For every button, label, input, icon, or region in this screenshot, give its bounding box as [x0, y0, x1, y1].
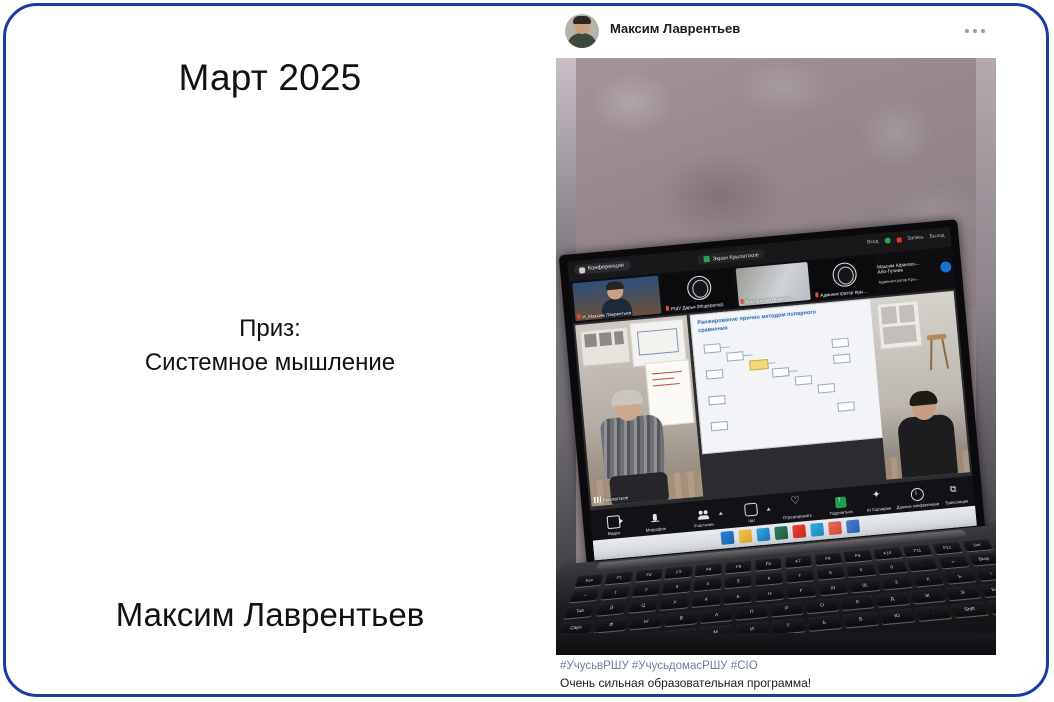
keyboard-key[interactable]: 0 [877, 561, 907, 574]
toolbar-button-chat[interactable]: Чат [730, 501, 772, 525]
meet-icon[interactable] [846, 519, 860, 533]
keyboard-key[interactable]: Shift [951, 602, 989, 618]
post-photo[interactable]: Конференция Экран Крылатское Вход Запись… [556, 58, 996, 655]
keyboard-key[interactable]: Esc [574, 574, 604, 587]
keyboard-key[interactable]: . [915, 605, 952, 621]
globe-avatar-icon [686, 275, 712, 301]
keyboard-key[interactable]: F4 [695, 563, 722, 576]
keyboard-key[interactable]: Т [772, 618, 805, 634]
keyboard-key[interactable]: Ф [594, 617, 628, 633]
keyboard-key[interactable]: 7 [786, 569, 814, 583]
keyboard-key[interactable]: Ю [879, 608, 915, 624]
toolbar-button-share[interactable]: Поделиться [820, 495, 861, 517]
post-caption: #УчусьвРШУ #УчусьдомасРШУ #CIO Очень сил… [560, 660, 990, 690]
post-caption-text: Очень сильная образовательная программа! [560, 676, 990, 690]
keyboard-key[interactable]: 3 [662, 580, 691, 594]
toolbar-button-participants[interactable]: Участники [682, 508, 723, 530]
keyboard-key[interactable]: Ц [628, 598, 658, 613]
screen-share-icon [703, 255, 710, 262]
chevron-up-icon[interactable] [719, 512, 723, 515]
keyboard-key[interactable]: F2 [635, 569, 663, 582]
participant-tile[interactable]: Н_Максим Лаврентьев [572, 276, 661, 322]
keyboard-key[interactable]: Й [596, 601, 627, 616]
keyboard-key[interactable]: F6 [755, 558, 782, 571]
camera-feed-right[interactable] [870, 291, 970, 480]
edge-icon[interactable] [756, 528, 770, 542]
avatar[interactable] [565, 14, 599, 48]
keyboard-key[interactable]: Ъ [943, 570, 976, 584]
laptop-screen: Конференция Экран Крылатское Вход Запись… [567, 227, 977, 561]
keyboard-key[interactable]: 2 [631, 583, 660, 597]
laptop: Конференция Экран Крылатское Вход Запись… [556, 189, 996, 655]
keyboard-key[interactable]: Bksp [968, 553, 996, 566]
keyboard-key[interactable]: \ [975, 567, 996, 581]
keyboard-key[interactable]: Ж [910, 588, 946, 603]
keyboard-key[interactable]: Н [756, 587, 784, 601]
record-label[interactable]: Запись [907, 234, 924, 241]
keyboard-key[interactable]: Ь [808, 615, 842, 631]
keyboard-key[interactable]: F1 [605, 571, 634, 584]
participant-avatar-icon[interactable] [940, 261, 952, 273]
keyboard-key[interactable]: Ш [818, 581, 848, 595]
avatar-hair [573, 16, 591, 24]
keyboard-key[interactable]: ~ [569, 589, 600, 603]
keyboard-key[interactable]: 8 [816, 566, 845, 579]
more-options-icon[interactable] [965, 26, 987, 36]
keyboard-key[interactable]: = [938, 555, 970, 568]
keyboard-key[interactable]: Х [912, 573, 944, 587]
exit-label[interactable]: Выход [929, 232, 944, 239]
toolbar-button-react[interactable]: Отреагировать [776, 499, 817, 521]
globe-avatar-icon [832, 262, 858, 288]
laptop-lid: Конференция Экран Крылатское Вход Запись… [559, 219, 986, 574]
camera-feed-left[interactable]: Крылатское [575, 315, 703, 506]
keyboard-key[interactable]: Л [840, 595, 874, 610]
slide-text-column: Март 2025 Приз: Системное мышление Макси… [0, 0, 540, 702]
post-author-name[interactable]: Максим Лаврентьев [610, 21, 740, 36]
keyboard-key[interactable]: П [736, 604, 768, 619]
telegram-icon[interactable] [810, 523, 824, 537]
shared-slide-title: Ранжирование причин методом попарного ср… [697, 307, 848, 336]
info-icon [910, 487, 924, 501]
person-in-frame [596, 390, 670, 505]
toolbar-button-broadcast[interactable]: Трансляция [935, 485, 976, 507]
page-title: Март 2025 [0, 57, 540, 99]
keyboard-key[interactable]: Е [724, 590, 752, 604]
post-header: Максим Лаврентьев [548, 14, 1003, 54]
keyboard-key[interactable]: Д [875, 592, 910, 607]
conference-room-badge: Конференция [574, 260, 632, 275]
microphone-icon [649, 513, 661, 525]
record-dot-icon [896, 237, 901, 242]
keyboard-key[interactable]: F12 [932, 542, 963, 555]
shared-slide-diagram [703, 331, 861, 440]
keyboard-key[interactable]: 5 [725, 575, 752, 589]
camera-icon [606, 515, 620, 529]
conference-main-area: Крылатское Ранжирование причин методом п… [573, 289, 972, 511]
keyboard-key[interactable]: Р [771, 601, 803, 616]
login-label[interactable]: Вход [867, 238, 879, 245]
toolbar-button-microphone[interactable]: Микрофон [635, 512, 676, 534]
prize-block: Приз: Системное мышление [0, 312, 540, 380]
office-icon[interactable] [828, 521, 842, 535]
presentation-slide: Март 2025 Приз: Системное мышление Макси… [0, 0, 1054, 702]
prize-label: Приз: [0, 312, 540, 346]
keyboard-key[interactable]: ↑ [987, 598, 996, 614]
keyboard-key[interactable]: Б [843, 611, 878, 627]
keyboard-key[interactable]: А [700, 607, 732, 623]
keyboard-key[interactable]: F5 [725, 561, 752, 574]
keyboard-key[interactable]: F9 [844, 550, 873, 563]
heart-icon [790, 501, 802, 513]
keyboard-key[interactable]: Щ [850, 578, 881, 592]
keyboard-key[interactable]: Э [945, 585, 981, 600]
keyboard-key[interactable]: - [907, 558, 938, 571]
chat-icon [743, 503, 757, 517]
keyboard-key[interactable]: Enter [979, 582, 996, 597]
shelf [580, 327, 631, 367]
shared-slide[interactable]: Ранжирование причин методом попарного ср… [690, 298, 884, 454]
participant-tile[interactable]: Администратор Кры... [810, 256, 877, 300]
post-hashtags[interactable]: #УчусьвРШУ #УчусьдомасРШУ #CIO [560, 660, 990, 672]
keyboard-key[interactable]: В [665, 611, 698, 627]
keyboard-key[interactable]: О [806, 598, 839, 613]
record-icon [950, 486, 962, 498]
participant-tile[interactable]: РШУ Дарья (Модератор) [661, 269, 736, 313]
keyboard-key[interactable]: 4 [693, 577, 721, 591]
keyboard-key[interactable]: Ы [629, 614, 663, 630]
keyboard-key[interactable]: З [881, 575, 912, 589]
desk-foreground [556, 633, 996, 655]
prize-name: Системное мышление [0, 346, 540, 380]
sparkle-icon [872, 493, 884, 505]
keyboard-key[interactable]: Del [962, 539, 993, 551]
opera-icon[interactable] [792, 524, 806, 538]
chevron-up-icon[interactable] [766, 507, 770, 510]
share-screen-icon [834, 497, 846, 509]
social-post-card: Максим Лаврентьев Конференция Экран Кры [548, 0, 1003, 702]
status-dot-icon [884, 237, 891, 244]
keyboard-key[interactable]: Г [787, 584, 816, 598]
keyboard-key[interactable]: F8 [814, 553, 842, 566]
keyboard-key[interactable]: F10 [873, 547, 902, 560]
keyboard-key[interactable]: У [660, 595, 690, 610]
window [876, 300, 922, 350]
person-name: Максим Лаврентьев [0, 596, 540, 634]
avatar-body [567, 33, 597, 48]
keyboard-key[interactable]: Tab [564, 604, 596, 619]
keyboard-key[interactable]: F3 [665, 566, 693, 579]
keyboard-key[interactable]: 9 [846, 564, 876, 577]
screen-share-label: Экран Крылатское [697, 249, 765, 265]
stool [923, 333, 952, 371]
store-icon[interactable] [774, 526, 788, 540]
keyboard-key[interactable]: F11 [903, 544, 933, 557]
participant-tile[interactable]: Крылатское (Камера ... [736, 262, 811, 306]
toolbar-button-info[interactable]: Данные конференции [893, 486, 941, 510]
people-icon [697, 509, 709, 521]
toolbar-button-video[interactable]: Видео [593, 514, 635, 538]
keyboard-key[interactable]: F7 [785, 555, 812, 568]
file-explorer-icon[interactable] [738, 529, 752, 543]
keyboard-key[interactable]: 1 [600, 586, 630, 600]
conference-top-right-controls[interactable]: Вход Запись Выход [867, 232, 945, 245]
person-in-frame [895, 392, 958, 479]
keyboard-key[interactable]: 6 [755, 572, 783, 586]
start-icon[interactable] [720, 531, 734, 545]
keyboard-key[interactable]: К [692, 593, 721, 607]
